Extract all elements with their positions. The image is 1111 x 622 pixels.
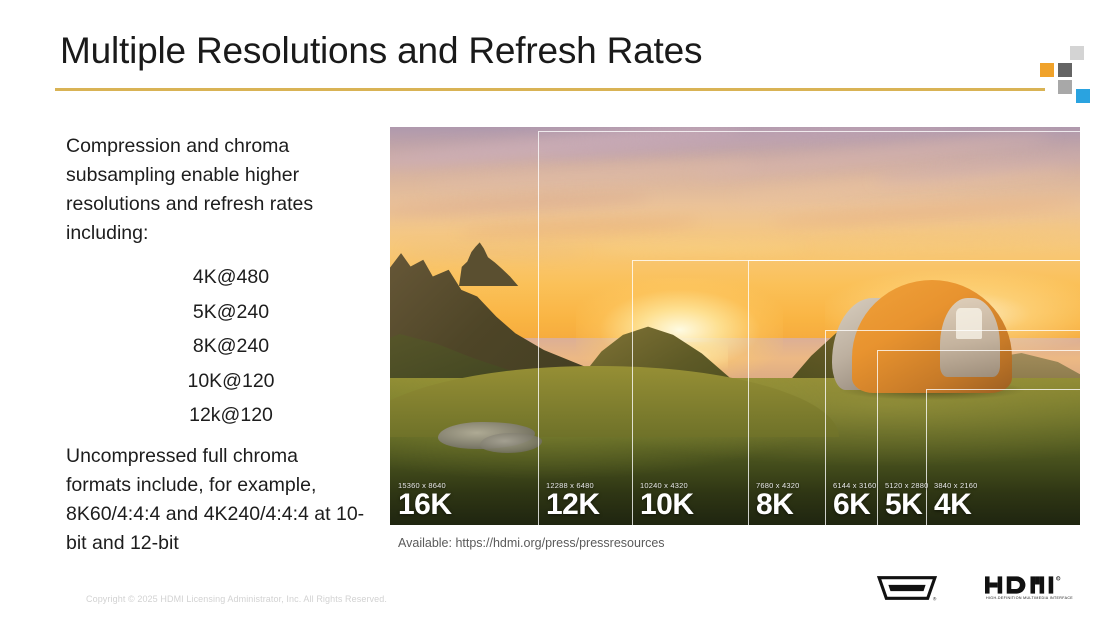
resolution-label-4k: 3840 x 2160 4K [934, 481, 978, 519]
decorative-squares [1034, 46, 1090, 104]
deco-square-blue [1076, 89, 1090, 103]
hdmi-port-icon: ® [876, 574, 938, 602]
page-title: Multiple Resolutions and Refresh Rates [60, 30, 702, 72]
image-caption: Available: https://hdmi.org/press/pressr… [398, 536, 665, 550]
hdmi-tagline: HIGH-DEFINITION MULTIMEDIA INTERFACE [986, 596, 1073, 600]
body-text-column: Compression and chroma subsampling enabl… [66, 132, 366, 433]
deco-square-mid-gray [1058, 80, 1072, 94]
list-item: 10K@120 [66, 364, 366, 399]
list-item: 12k@120 [66, 398, 366, 433]
list-item: 5K@240 [66, 295, 366, 330]
list-item: 8K@240 [66, 329, 366, 364]
resolution-label-10k: 10240 x 4320 10K [640, 481, 694, 519]
resolution-labels: 15360 x 8640 16K 12288 x 6480 12K 10240 … [390, 455, 1080, 525]
deco-square-orange [1040, 63, 1054, 77]
hdmi-wordmark-logo: R HIGH-DEFINITION MULTIMEDIA INTERFACE [984, 574, 1080, 602]
resolution-label-6k: 6144 x 3160 6K [833, 481, 877, 519]
resolution-label-16k: 15360 x 8640 16K [398, 481, 452, 519]
deco-square-light-gray [1070, 46, 1084, 60]
paragraph-compression: Compression and chroma subsampling enabl… [66, 132, 366, 248]
paragraph-uncompressed: Uncompressed full chroma formats include… [66, 442, 366, 558]
svg-text:®: ® [933, 595, 937, 601]
deco-square-dark-gray [1058, 63, 1072, 77]
refresh-rate-list: 4K@480 5K@240 8K@240 10K@120 12k@120 [66, 260, 366, 433]
title-divider [55, 88, 1045, 91]
resolution-comparison-image: 15360 x 8640 16K 12288 x 6480 12K 10240 … [390, 127, 1080, 525]
resolution-label-5k: 5120 x 2880 5K [885, 481, 929, 519]
copyright-text: Copyright © 2025 HDMI Licensing Administ… [86, 594, 387, 604]
resolution-label-8k: 7680 x 4320 8K [756, 481, 800, 519]
list-item: 4K@480 [66, 260, 366, 295]
resolution-label-12k: 12288 x 6480 12K [546, 481, 600, 519]
slide: Multiple Resolutions and Refresh Rates C… [0, 0, 1111, 622]
